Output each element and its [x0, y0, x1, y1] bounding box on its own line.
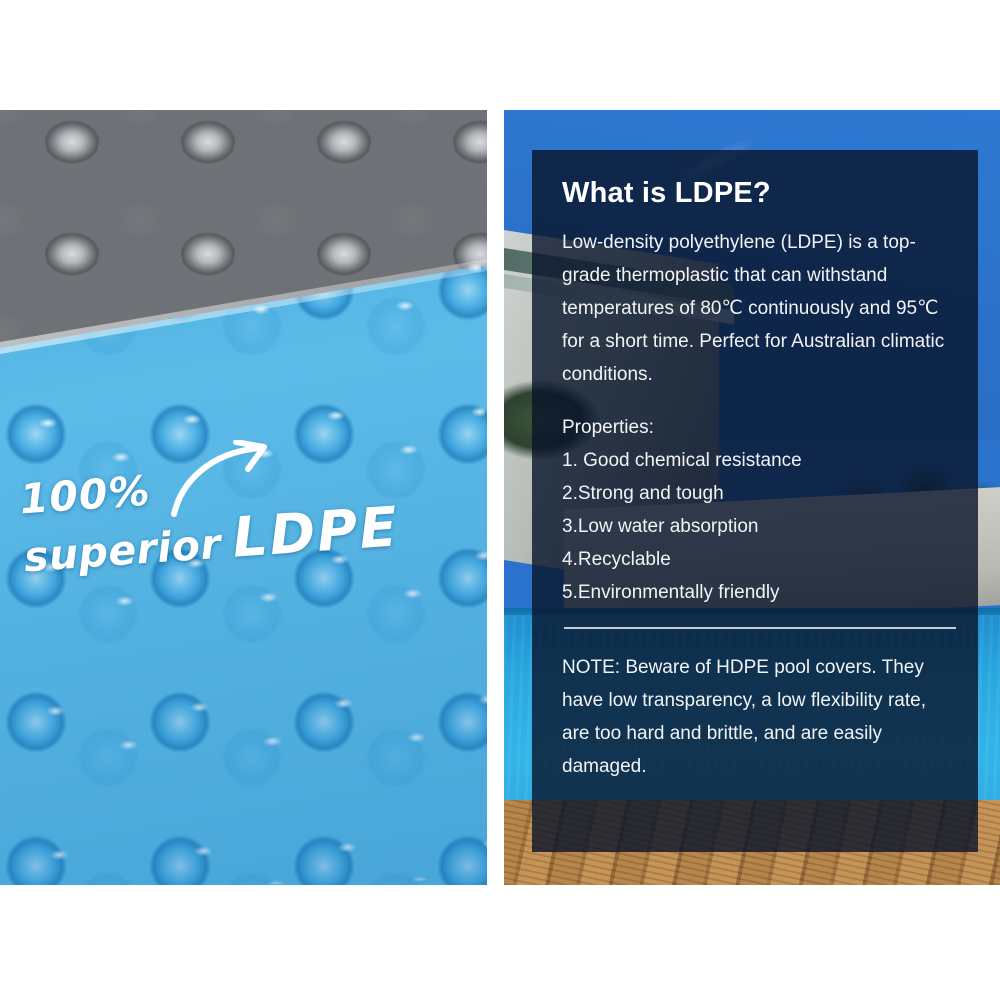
note-paragraph: NOTE: Beware of HDPE pool covers. They h… [562, 651, 948, 783]
list-item: 5.Environmentally friendly [562, 576, 948, 609]
properties-list: 1. Good chemical resistance 2.Strong and… [562, 444, 948, 609]
page-title: What is LDPE? [562, 178, 948, 210]
intro-paragraph: Low-density polyethylene (LDPE) is a top… [562, 226, 948, 391]
product-info-graphic: 100% superiorLDPE What is LDPE? Low-dens… [0, 0, 1000, 1000]
list-item: 2.Strong and tough [562, 477, 948, 510]
info-text-overlay: What is LDPE? Low-density polyethylene (… [532, 150, 978, 852]
list-item: 1. Good chemical resistance [562, 444, 948, 477]
list-item: 3.Low water absorption [562, 510, 948, 543]
properties-title: Properties: [562, 411, 948, 444]
right-info-panel: What is LDPE? Low-density polyethylene (… [504, 110, 1000, 885]
left-image-panel: 100% superiorLDPE [0, 110, 487, 885]
list-item: 4.Recyclable [562, 543, 948, 576]
section-divider [564, 627, 956, 629]
